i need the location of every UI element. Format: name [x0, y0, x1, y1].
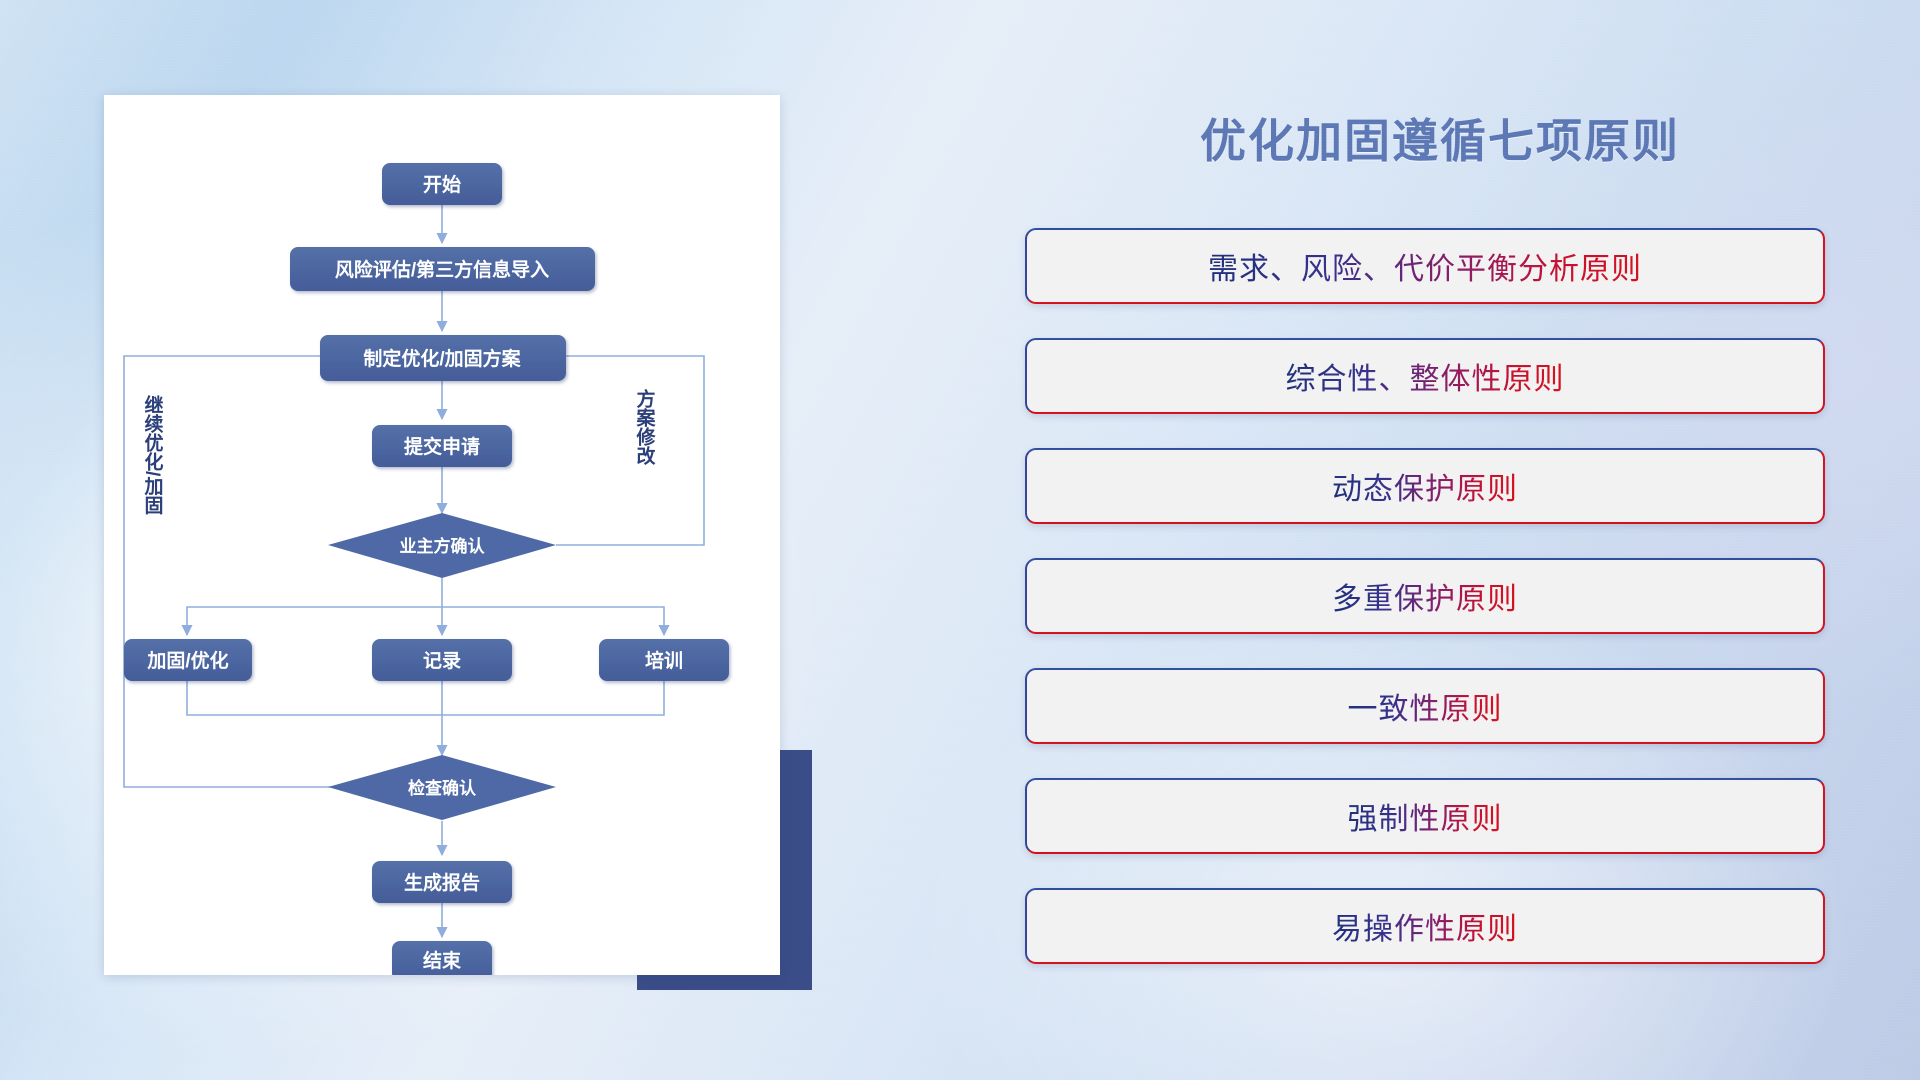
flow-node-plan-label: 制定优化/加固方案 — [363, 347, 521, 370]
flow-edge-label-left-loop: 继续优化/加固 — [142, 394, 165, 515]
flow-node-end-label: 结束 — [423, 949, 462, 972]
page-title: 优化加固遵循七项原则 — [1000, 105, 1880, 171]
principle-label: 需求、风险、代价平衡分析原则 — [1208, 244, 1642, 288]
flow-node-record-label: 记录 — [423, 650, 461, 672]
principle-item-2[interactable]: 综合性、整体性原则 — [1025, 338, 1825, 414]
principle-label: 易操作性原则 — [1332, 904, 1518, 948]
flow-node-check-confirm-label: 检查确认 — [408, 778, 477, 798]
principle-list: 需求、风险、代价平衡分析原则 综合性、整体性原则 动态保护原则 多重保护原则 一… — [1025, 228, 1825, 998]
principle-item-4[interactable]: 多重保护原则 — [1025, 558, 1825, 634]
flowchart-svg: 开始 风险评估/第三方信息导入 制定优化/加固方案 提交申请 — [104, 95, 780, 975]
flowchart-card: 开始 风险评估/第三方信息导入 制定优化/加固方案 提交申请 — [104, 95, 780, 975]
flow-node-apply-label: 提交申请 — [404, 435, 480, 458]
principle-label: 动态保护原则 — [1332, 464, 1518, 508]
principle-item-5[interactable]: 一致性原则 — [1025, 668, 1825, 744]
flowchart-panel: 开始 风险评估/第三方信息导入 制定优化/加固方案 提交申请 — [0, 0, 840, 1080]
principle-label: 多重保护原则 — [1332, 574, 1518, 618]
principle-item-7[interactable]: 易操作性原则 — [1025, 888, 1825, 964]
principle-item-6[interactable]: 强制性原则 — [1025, 778, 1825, 854]
principles-panel: 优化加固遵循七项原则 需求、风险、代价平衡分析原则 综合性、整体性原则 动态保护… — [1000, 0, 1920, 1080]
flow-edge-label-right-loop: 方案修改 — [634, 388, 657, 466]
slide-canvas: 开始 风险评估/第三方信息导入 制定优化/加固方案 提交申请 — [0, 0, 1920, 1080]
flow-node-owner-confirm-label: 业主方确认 — [400, 536, 486, 556]
flow-node-training-label: 培训 — [645, 649, 683, 672]
principle-label: 强制性原则 — [1348, 794, 1503, 838]
flow-node-start-label: 开始 — [423, 173, 461, 196]
principle-item-3[interactable]: 动态保护原则 — [1025, 448, 1825, 524]
flow-node-report-label: 生成报告 — [404, 871, 480, 894]
flow-node-reinforce-label: 加固/优化 — [146, 649, 228, 672]
principle-item-1[interactable]: 需求、风险、代价平衡分析原则 — [1025, 228, 1825, 304]
principle-label: 综合性、整体性原则 — [1286, 354, 1565, 398]
flow-node-risk-label: 风险评估/第三方信息导入 — [335, 258, 549, 281]
principle-label: 一致性原则 — [1348, 684, 1503, 728]
